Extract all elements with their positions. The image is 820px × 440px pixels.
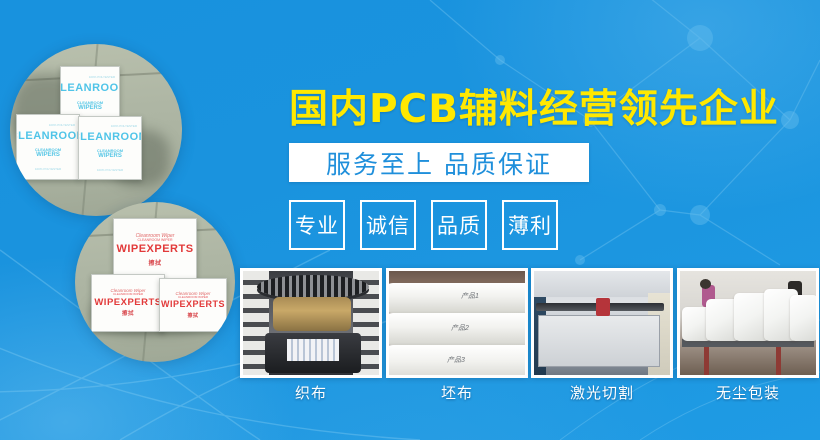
- pack-brand: WIPEXPERTS: [161, 300, 225, 309]
- pack-sub2: WIPERS: [78, 105, 102, 111]
- wipe-pack: 100% POLYESTER CLEANROOM CLEANROOM WIPER…: [78, 116, 142, 180]
- wipe-pack: 100% POLYESTER CLEANROOM CLEANROOM WIPER…: [16, 114, 80, 180]
- process-thumbnail-greige-fabric[interactable]: 产品1 产品2 产品3: [386, 268, 528, 378]
- needle-ring: [257, 275, 369, 299]
- worker-head: [700, 279, 711, 289]
- pack-badge: 擦拭: [187, 314, 198, 319]
- cutting-bed: [538, 315, 660, 367]
- pack-brand: WIPEXPERTS: [94, 298, 161, 308]
- packed-bag: [790, 295, 818, 341]
- process-thumbnail-weaving[interactable]: [240, 268, 382, 378]
- wipe-pack: Cleanroom Wiper CLEANROOM WIPER WIPEXPER…: [91, 274, 165, 332]
- pack-sub2: WIPERS: [36, 152, 60, 158]
- pack-tiny-text: 100% POLYESTER: [49, 123, 75, 127]
- cleanroom-packing-photo: [680, 271, 816, 375]
- thumbnail-caption-laser-cutting: 激光切割: [531, 382, 673, 403]
- roll-label: 产品1: [461, 291, 479, 301]
- laser-cutting-photo: [534, 271, 670, 375]
- value-tag-professional[interactable]: 专业: [289, 200, 345, 250]
- value-tag-low-margin[interactable]: 薄利: [502, 200, 558, 250]
- wipe-pack: Cleanroom Wiper CLEANROOM WIPER WIPEXPER…: [113, 218, 197, 282]
- thumbnail-caption-cleanroom-packing: 无尘包装: [677, 382, 819, 403]
- process-thumbnail-laser-cutting[interactable]: [531, 268, 673, 378]
- product-photo-cleanroom-wipes: 100% POLYESTER CLEANROOM CLEANROOM WIPER…: [10, 44, 182, 216]
- promo-banner: 100% POLYESTER CLEANROOM CLEANROOM WIPER…: [0, 0, 820, 440]
- pack-tiny-text: 100% POLYESTER: [97, 168, 123, 172]
- pack-brand: CLEANROOM: [78, 132, 142, 143]
- value-tag-group: 专业 诚信 品质 薄利: [289, 200, 558, 250]
- pack-brand: WIPEXPERTS: [116, 244, 193, 255]
- roll-label: 产品3: [447, 355, 465, 365]
- pack-badge: 擦拭: [122, 312, 134, 318]
- roll-label: 产品2: [451, 323, 469, 333]
- pack-tiny-text: 100% POLYESTER: [89, 75, 115, 79]
- slogan-text: 服务至上 品质保证: [326, 145, 552, 181]
- fabric-roll: [386, 283, 528, 313]
- table-leg: [704, 347, 709, 375]
- knitted-fabric: [287, 339, 339, 361]
- laser-head: [596, 298, 610, 316]
- value-tag-quality[interactable]: 品质: [431, 200, 487, 250]
- wipe-pack: Cleanroom Wiper CLEANROOM WIPER WIPEXPER…: [159, 278, 227, 332]
- pack-brand: CLEANROOM: [16, 131, 80, 142]
- pack-tiny-text: 100% POLYESTER: [35, 167, 61, 171]
- pack-brand: CLEANROOM: [60, 83, 120, 94]
- thumbnail-caption-greige-fabric: 坯布: [386, 382, 528, 403]
- process-thumbnail-cleanroom-packing[interactable]: [677, 268, 819, 378]
- pack-tiny-text: 100% POLYESTER: [111, 124, 137, 128]
- pack-badge: 擦拭: [148, 261, 161, 267]
- slogan-box: 服务至上 品质保证: [289, 143, 589, 182]
- knitting-machine-photo: [243, 271, 379, 375]
- value-tag-integrity[interactable]: 诚信: [360, 200, 416, 250]
- table-leg: [776, 347, 781, 375]
- fabric-rolls-photo: 产品1 产品2 产品3: [389, 271, 525, 375]
- pack-sub2: WIPERS: [98, 153, 122, 159]
- thumbnail-caption-weaving: 织布: [240, 382, 382, 403]
- product-photo-wipexperts: Cleanroom Wiper CLEANROOM WIPER WIPEXPER…: [75, 202, 235, 362]
- machine-drum: [273, 297, 351, 331]
- banner-headline: 国内PCB辅料经营领先企业: [289, 78, 779, 134]
